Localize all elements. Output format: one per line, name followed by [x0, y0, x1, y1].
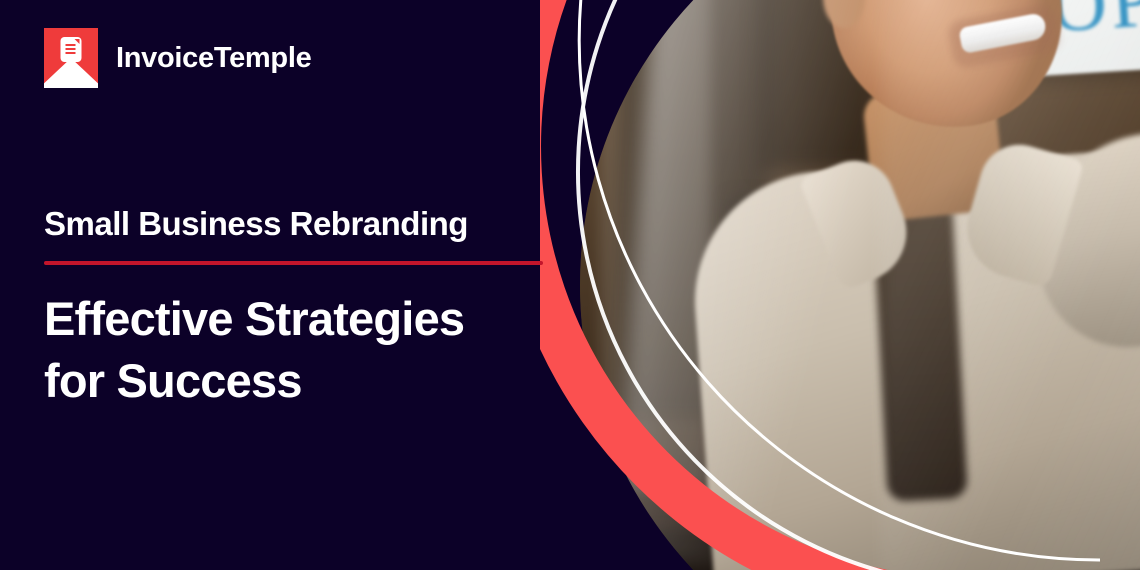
kicker-underline-rule [44, 261, 543, 265]
invoice-temple-logo-icon [44, 28, 98, 88]
temple-roof-shape [44, 58, 98, 88]
blog-hero-banner: COME IN WE'RE OPEN [0, 0, 1140, 570]
headline-line-2: for Success [44, 350, 464, 412]
brand-name: InvoiceTemple [116, 44, 311, 73]
headline-line-1: Effective Strategies [44, 288, 464, 350]
hero-artwork: COME IN WE'RE OPEN [540, 0, 1140, 570]
window-glass-streak [880, 0, 1140, 570]
brand-logo[interactable]: InvoiceTemple [44, 28, 311, 88]
article-kicker: Small Business Rebranding [44, 206, 468, 242]
hero-photo-image: COME IN WE'RE OPEN [580, 0, 1140, 570]
document-icon [63, 39, 80, 60]
hero-photo-circle: COME IN WE'RE OPEN [580, 0, 1140, 570]
article-headline: Effective Strategies for Success [44, 288, 464, 412]
hero-content: InvoiceTemple Small Business Rebranding … [0, 0, 600, 570]
